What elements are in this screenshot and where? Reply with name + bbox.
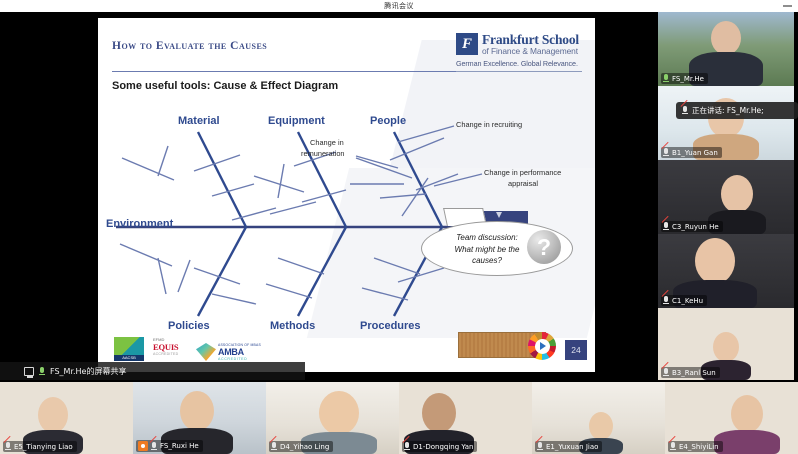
participant-nametag: E4_ShiyiLin <box>668 441 723 452</box>
participant-tile[interactable]: D1-Dongqing Yan <box>399 382 532 454</box>
amba-gem-icon <box>196 343 216 361</box>
slide-title: How to Evaluate the Causes <box>112 40 267 52</box>
play-triangle-icon <box>540 342 546 350</box>
minimize-icon[interactable] <box>783 5 792 7</box>
window-titlebar: 腾讯会议 <box>0 0 798 12</box>
microphone-muted-icon <box>663 368 669 377</box>
fishbone-category-equipment: Equipment <box>268 115 325 127</box>
microphone-muted-icon <box>663 222 669 231</box>
microphone-muted-icon <box>682 106 688 115</box>
participant-tile[interactable]: FS_Mr.He <box>658 12 794 86</box>
participant-tile[interactable]: FS_Ruxi He <box>133 382 266 454</box>
participant-nametag: FS_Mr.He <box>661 73 708 84</box>
active-speaker-toast: 正在讲话: FS_Mr.He; <box>676 102 798 119</box>
slide-page-number: 24 <box>565 340 587 360</box>
participant-name: C1_KeHu <box>672 297 703 305</box>
participant-row-bottom: E5_Tianying Liao FS_Ruxi He D4_Yihao Lin… <box>0 382 798 454</box>
amba-label: AMBA <box>218 347 261 357</box>
participant-nametag: C3_Ruyun He <box>661 221 723 232</box>
participant-column-right: FS_Mr.He B1_Yuan Gan C3_Ruyun He <box>658 12 794 380</box>
equis-label: EQUIS <box>153 342 187 352</box>
callout-text: Team discussion: What might be the cause… <box>435 232 539 267</box>
amba-logo-icon: ASSOCIATION OF MBAS AMBA ACCREDITED <box>196 343 261 361</box>
microphone-muted-icon <box>663 148 669 157</box>
fishbone-category-people: People <box>370 115 406 127</box>
logo-line-2: of Finance & Management <box>482 46 578 56</box>
callout-line-1: Team discussion: <box>435 232 539 244</box>
screen-share-status-bar: FS_Mr.He的屏幕共享 <box>0 362 305 380</box>
fishbone-category-procedures: Procedures <box>360 320 421 332</box>
participant-tile[interactable]: E5_Tianying Liao <box>0 382 133 454</box>
annotation-change-in-remuneration-line2: remuneration <box>301 149 345 158</box>
tencent-meeting-window: 腾讯会议 How to Evaluate the Causes Some use… <box>0 0 798 454</box>
accreditation-logos: AACSB EFMD EQUIS ACCREDITED ASSOCIATION … <box>114 335 261 361</box>
presentation-slide: How to Evaluate the Causes Some useful t… <box>98 18 595 372</box>
aacsb-logo-icon: AACSB <box>114 337 144 361</box>
participant-tile[interactable]: C1_KeHu <box>658 234 794 308</box>
participant-tile[interactable]: E4_ShiyiLin <box>665 382 798 454</box>
participant-nametag: D4_Yihao Ling <box>269 441 333 452</box>
equis-logo-icon: EFMD EQUIS ACCREDITED <box>153 337 187 361</box>
annotation-change-in-performance-line1: Change in performance <box>484 168 561 177</box>
sdg-wheel-play-icon[interactable] <box>528 332 556 360</box>
annotation-change-in-recruiting: Change in recruiting <box>456 120 522 129</box>
microphone-muted-icon <box>151 442 157 451</box>
screen-share-icon <box>24 367 34 376</box>
participant-nametag: B1_Yuan Gan <box>661 147 722 158</box>
window-title: 腾讯会议 <box>384 1 414 11</box>
callout-line-3: causes? <box>435 255 539 267</box>
participant-name: E1_Yuxuan Jiao <box>546 443 598 451</box>
microphone-icon <box>39 367 45 376</box>
microphone-icon <box>663 74 669 83</box>
participant-name: FS_Mr.He <box>672 75 704 83</box>
logo-tagline: German Excellence. Global Relevance. <box>456 59 578 68</box>
microphone-muted-icon <box>5 442 11 451</box>
equis-sub-label: ACCREDITED <box>153 352 187 356</box>
participant-name: B3_Ranl Sun <box>672 369 716 377</box>
microphone-muted-icon <box>537 442 543 451</box>
participant-video-figure <box>714 395 780 454</box>
participant-nametag: E5_Tianying Liao <box>3 441 77 452</box>
annotation-change-in-performance-line2: appraisal <box>508 179 538 188</box>
participant-tile[interactable]: E1_Yuxuan Jiao <box>532 382 665 454</box>
participant-nametag: D1-Dongqing Yan <box>402 441 477 452</box>
participant-tile[interactable]: B1_Yuan Gan <box>658 86 794 160</box>
participant-nametag: E1_Yuxuan Jiao <box>535 441 602 452</box>
active-speaker-text: 正在讲话: FS_Mr.He; <box>692 105 764 116</box>
participant-nametag: C1_KeHu <box>661 295 707 306</box>
microphone-muted-icon <box>670 442 676 451</box>
participant-name: B1_Yuan Gan <box>672 149 718 157</box>
microphone-muted-icon <box>663 296 669 305</box>
microphone-muted-icon <box>404 442 410 451</box>
screen-share-stage[interactable]: How to Evaluate the Causes Some useful t… <box>0 12 655 382</box>
participant-name: C3_Ruyun He <box>672 223 719 231</box>
play-button-inner <box>535 339 550 354</box>
amba-sub-label: ACCREDITED <box>218 357 261 361</box>
logo-mark-letter: F <box>456 33 478 55</box>
screen-share-label: FS_Mr.He的屏幕共享 <box>50 366 126 377</box>
logo-underline <box>456 71 582 72</box>
fishbone-category-policies: Policies <box>168 320 210 332</box>
microphone-muted-icon <box>271 442 277 451</box>
participant-nametag: FS_Ruxi He <box>136 440 203 452</box>
participant-name: E5_Tianying Liao <box>14 443 73 451</box>
host-badge-icon <box>138 441 148 451</box>
aacsb-label: AACSB <box>114 355 144 361</box>
participant-tile[interactable]: C3_Ruyun He <box>658 160 794 234</box>
participant-name: D4_Yihao Ling <box>280 443 329 451</box>
fishbone-category-material: Material <box>178 115 220 127</box>
frankfurt-school-mark-icon: F <box>456 33 478 55</box>
participant-tile[interactable]: D4_Yihao Ling <box>266 382 399 454</box>
participant-name: D1-Dongqing Yan <box>413 443 473 451</box>
question-mark-sphere-icon: ? <box>527 230 561 264</box>
participant-name: E4_ShiyiLin <box>679 443 719 451</box>
participant-nametag: B3_Ranl Sun <box>661 367 720 378</box>
fishbone-category-environment: Environment <box>106 218 173 230</box>
participant-tile[interactable]: B3_Ranl Sun <box>658 308 794 380</box>
fishbone-category-methods: Methods <box>270 320 315 332</box>
team-discussion-callout: Team discussion: What might be the cause… <box>421 208 573 276</box>
callout-line-2: What might be the <box>435 244 539 256</box>
annotation-change-in-remuneration-line1: Change in <box>310 138 344 147</box>
participant-name: FS_Ruxi He <box>160 442 199 450</box>
slide-subtitle: Some useful tools: Cause & Effect Diagra… <box>112 80 338 92</box>
frankfurt-school-logo: F Frankfurt School of Finance & Manageme… <box>456 32 582 74</box>
